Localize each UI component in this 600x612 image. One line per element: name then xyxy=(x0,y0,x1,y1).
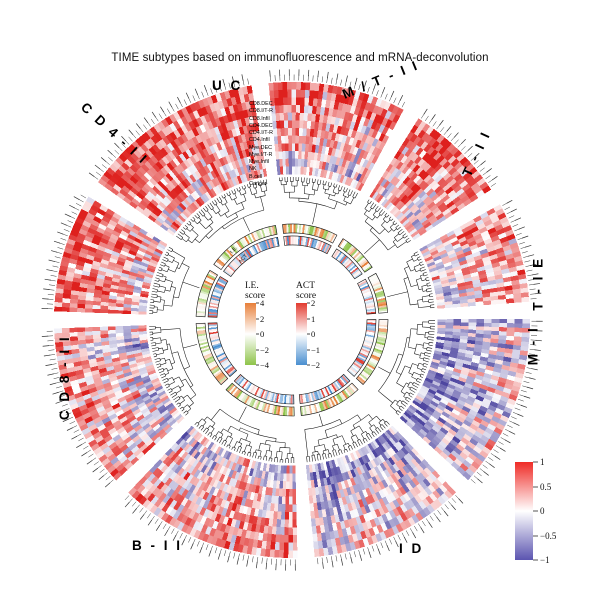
main-colorbar xyxy=(515,462,533,560)
act-colorbar xyxy=(296,303,307,365)
row-label-6: Mye.DEC xyxy=(249,145,273,152)
row-label-0: CD8.DEC xyxy=(249,101,273,108)
row-label-3: CD4.DEC xyxy=(249,123,273,130)
main-colorbar-legend: 10.50−0.5−1 xyxy=(515,462,567,560)
dendrogram xyxy=(149,177,435,463)
sector-label-cd82: C D 8 - I I xyxy=(57,335,72,420)
sector-label-b2: B - I I xyxy=(132,538,183,553)
row-label-2: CD8.Infil xyxy=(249,116,273,123)
row-label-11: Cancer xyxy=(249,181,273,188)
ie-score-legend: I.E. score 420−2−4 xyxy=(245,282,282,365)
sector-label-t1e: T - I E xyxy=(531,256,546,310)
sector-label-m1: M - I xyxy=(525,326,540,366)
main-colorbar-ticks: 10.50−0.5−1 xyxy=(533,462,567,560)
row-label-5: CD4.Infil xyxy=(249,137,273,144)
row-label-1: CD8.I/T-R xyxy=(249,108,273,115)
ie-colorbar-ticks: 420−2−4 xyxy=(256,303,282,365)
row-label-10: B.cell xyxy=(249,174,273,181)
figure-canvas: TIME subtypes based on immunofluorescenc… xyxy=(0,0,600,612)
ie-colorbar xyxy=(245,303,256,365)
act-score-legend: ACT score 210−1−2 xyxy=(296,282,333,365)
heatmap-row-label-list: CD8.DECCD8.I/T-RCD8.InfilCD4.DECCD4.I/T-… xyxy=(249,101,273,188)
row-label-9: NK xyxy=(249,166,273,173)
act-colorbar-ticks: 210−1−2 xyxy=(307,303,333,365)
sector-label-uc: U C xyxy=(212,78,243,93)
row-label-7: Mye.I/T-R xyxy=(249,152,273,159)
row-label-4: CD4.I/T-R xyxy=(249,130,273,137)
sector-label-id: I D xyxy=(399,541,424,556)
row-label-8: Mye.Infil xyxy=(249,159,273,166)
annotation-rings xyxy=(196,224,388,416)
